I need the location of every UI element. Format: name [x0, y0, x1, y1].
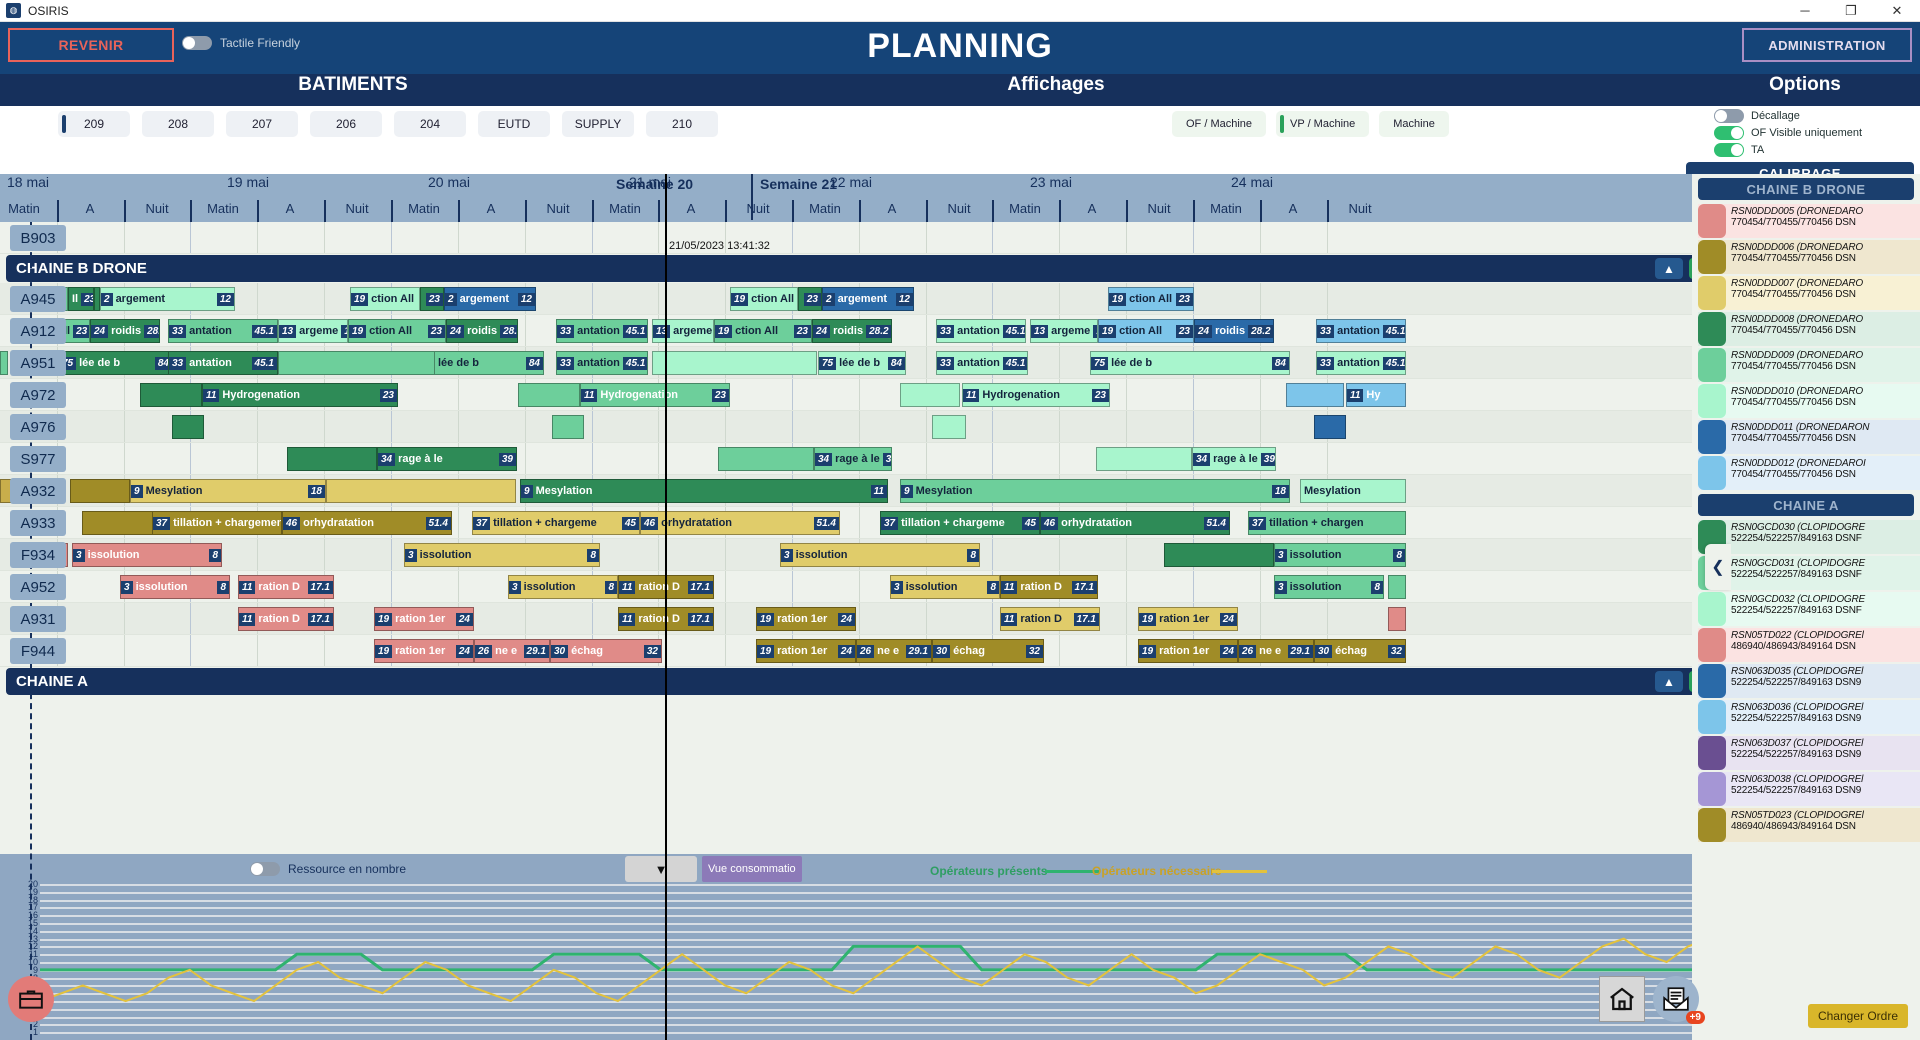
legend-item[interactable]: RSN0DDD010 (DRONEDARO770454/770455/77045…	[1698, 384, 1920, 418]
legend-text: RSN0GCD031 (CLOPIDOGRE522254/522257/8491…	[1726, 556, 1920, 590]
bar-badge-left: 19	[757, 613, 774, 626]
bar-badge-right: 29.1	[906, 645, 931, 658]
legend-color-swatch	[1698, 772, 1726, 806]
gantt-bar[interactable]: 23	[420, 287, 444, 311]
grid-line	[725, 411, 726, 442]
gantt-bar[interactable]: 30échag32	[1314, 639, 1406, 663]
chart-series-svg	[40, 884, 1731, 1040]
briefcase-icon[interactable]	[8, 976, 54, 1022]
legend-line1: RSN05TD023 (CLOPIDOGREl	[1731, 810, 1920, 821]
legend-item[interactable]: RSN0DDD007 (DRONEDARO770454/770455/77045…	[1698, 276, 1920, 310]
grid-line	[859, 571, 860, 602]
bar-badge-left: 19	[1139, 613, 1156, 626]
row-label-f934[interactable]: F934	[10, 542, 66, 568]
gantt-bar[interactable]: 3issolution8	[120, 575, 230, 599]
timeline-shift-5: Nuit	[345, 201, 368, 216]
gantt-bar[interactable]: 37tillation + chargeme45	[880, 511, 1040, 535]
legend-item[interactable]: RSN063D035 (CLOPIDOGREl522254/522257/849…	[1698, 664, 1920, 698]
gantt-bar[interactable]: lée de b84	[434, 351, 544, 375]
timeline-week-1: Semaine 21	[760, 176, 837, 192]
gantt-bar[interactable]: 24roidis28.2	[1194, 319, 1274, 343]
bar-badge-left: 13	[279, 325, 296, 338]
gantt-row: A93337tillation + chargement4546orhydrat…	[0, 507, 1731, 539]
timeline-day-6: 24 mai	[1231, 174, 1273, 190]
legend-item[interactable]: RSN0DDD011 (DRONEDARON770454/770455/7704…	[1698, 420, 1920, 454]
shift-divider-16	[1059, 200, 1061, 222]
bar-label: ration 1er	[774, 613, 838, 625]
bar-badge-right: 24	[1220, 645, 1237, 658]
gantt-bar[interactable]	[518, 383, 580, 407]
gantt-bar[interactable]	[172, 415, 204, 439]
gantt-bar[interactable]: 13argeme18	[278, 319, 348, 343]
timeline-shift-0: Matin	[8, 201, 40, 216]
bar-badge-left: 24	[1195, 325, 1212, 338]
grid-line	[124, 411, 125, 442]
maximize-button[interactable]: ❐	[1828, 0, 1874, 22]
gantt-bar[interactable]: 33antation45.1	[556, 351, 648, 375]
gantt-bar[interactable]: 33antation45.1	[936, 319, 1026, 343]
gantt-bar[interactable]: 2argement12	[444, 287, 536, 311]
grid-line	[992, 603, 993, 634]
gantt-bar[interactable]: 75lée de b84	[1090, 351, 1290, 375]
gantt-bar[interactable]: 46orhydratation51.4	[640, 511, 840, 535]
gantt-bar[interactable]: 19ration 1er24	[374, 607, 474, 631]
bar-badge-right: 17.1	[1072, 581, 1097, 594]
gantt-bar[interactable]	[1164, 543, 1274, 567]
gantt-row: B903	[0, 222, 1731, 254]
gantt-bar[interactable]: 33antation45.1	[1316, 319, 1406, 343]
bar-badge-left: 75	[1091, 357, 1108, 370]
row-label-a931[interactable]: A931	[10, 606, 66, 632]
gantt-bar[interactable]: 9Mesylation18	[900, 479, 1290, 503]
bar-badge-left: 19	[1099, 325, 1116, 338]
gantt-row: A945Il232argement1219ction All232argemen…	[0, 283, 1731, 315]
gantt-bar[interactable]: 19ration 1er24	[756, 607, 856, 631]
legend-item[interactable]: RSN05TD022 (CLOPIDOGREl486940/486943/849…	[1698, 628, 1920, 662]
bar-label: issolution	[903, 581, 988, 593]
gantt-bar[interactable]: 46orhydratation51.4	[1040, 511, 1230, 535]
bar-badge-left: 19	[731, 293, 748, 306]
bar-label: ration D	[635, 613, 687, 625]
gantt-bar[interactable]: 23	[798, 287, 822, 311]
legend-item[interactable]: RSN0GCD031 (CLOPIDOGRE522254/522257/8491…	[1698, 556, 1920, 590]
bar-badge-left: 3	[1275, 581, 1287, 594]
bar-badge-left: 2	[101, 293, 113, 306]
grid-line	[1059, 411, 1060, 442]
gantt-bar[interactable]: Mesylation	[1300, 479, 1406, 503]
legend-text: RSN0DDD012 (DRONEDAROI770454/770455/7704…	[1726, 456, 1920, 490]
gantt-bar[interactable]: 19ration 1er24	[1138, 639, 1238, 663]
legend-text: RSN0GCD032 (CLOPIDOGRE522254/522257/8491…	[1726, 592, 1920, 626]
grid-line	[1193, 379, 1194, 410]
gantt-bar[interactable]: 19ction All	[350, 287, 420, 311]
legend-item[interactable]: RSN0DDD008 (DRONEDARO770454/770455/77045…	[1698, 312, 1920, 346]
row-label-a912[interactable]: A912	[10, 318, 66, 344]
now-marker-label: 21/05/2023 13:41:32	[669, 240, 770, 252]
gantt-bar[interactable]: 33antation45.1	[936, 351, 1028, 375]
gantt-bar[interactable]: 37tillation + chargen	[1248, 511, 1406, 535]
gantt-bar[interactable]: 30échag32	[550, 639, 662, 663]
gantt-bar[interactable]: 3issolution8	[780, 543, 980, 567]
bar-badge-right: 8	[1393, 549, 1405, 562]
bar-label: issolution	[521, 581, 606, 593]
option-toggle-1[interactable]	[1714, 126, 1744, 140]
bar-label: ration 1er	[774, 645, 838, 657]
gantt-bar[interactable]: 3issolution8	[404, 543, 600, 567]
bar-badge-right: 8	[987, 581, 999, 594]
gantt-bar[interactable]	[1096, 447, 1192, 471]
gantt-bar[interactable]	[1286, 383, 1344, 407]
gantt-bar[interactable]: 46orhydratation51.4	[282, 511, 452, 535]
section-bar: BATIMENTS Affichages Options	[0, 74, 1920, 106]
bar-badge-right: 23	[1176, 325, 1193, 338]
gantt-bar[interactable]	[287, 447, 377, 471]
legend-item[interactable]: RSN0DDD009 (DRONEDARO770454/770455/77045…	[1698, 348, 1920, 382]
gantt-bar[interactable]: 33antation45.1	[1316, 351, 1406, 375]
chart-series-0	[40, 946, 1731, 969]
gantt-bar[interactable]: 24roidis28.2	[812, 319, 892, 343]
grid-line	[1126, 571, 1127, 602]
timeline-shift-14: Nuit	[947, 201, 970, 216]
bar-badge-left: 19	[349, 325, 366, 338]
gantt-bar[interactable]	[326, 479, 516, 503]
bar-badge-left: 19	[1139, 645, 1156, 658]
app-header: REVENIR Tactile Friendly PLANNING ADMINI…	[0, 22, 1920, 74]
gantt-bar[interactable]: 26ne e29.1	[1238, 639, 1314, 663]
gantt-bar[interactable]: 26ne e29.1	[856, 639, 932, 663]
gantt-bar[interactable]: 33antation45.1	[168, 319, 278, 343]
bar-badge-left: 3	[405, 549, 417, 562]
gantt-bar[interactable]: 13argeme18	[1030, 319, 1098, 343]
gantt-bar[interactable]: 9Mesylation11	[520, 479, 888, 503]
gantt-panel: ▲ Semaine 20Semaine 21 18 mai19 mai20 ma…	[0, 174, 1731, 1040]
grid-line	[257, 635, 258, 666]
gantt-bar[interactable]	[932, 415, 966, 439]
building-tab-supply[interactable]: SUPPLY	[562, 111, 634, 137]
option-row-1[interactable]: OF Visible uniquement	[1686, 126, 1914, 140]
page-title: PLANNING	[0, 27, 1920, 66]
legend-line2: 522254/522257/849163 DSNF	[1731, 533, 1920, 544]
gantt-bar[interactable]: 34rage à le39	[1192, 447, 1276, 471]
legend-color-swatch	[1698, 312, 1726, 346]
building-tab-208[interactable]: 208	[142, 111, 214, 137]
legend-item[interactable]: RSN0DDD006 (DRONEDARO770454/770455/77045…	[1698, 240, 1920, 274]
grid-line	[926, 411, 927, 442]
bar-badge-right: 8	[587, 549, 599, 562]
close-button[interactable]: ✕	[1874, 0, 1920, 22]
grid-line	[324, 283, 325, 314]
gantt-bar[interactable]	[718, 447, 814, 471]
gantt-bar[interactable]: 33antation45.1	[168, 351, 278, 375]
bar-label: lée de b	[435, 357, 526, 369]
changer-ordre-button[interactable]: Changer Ordre	[1808, 1004, 1908, 1028]
gantt-bar[interactable]	[1388, 607, 1406, 631]
bar-badge-left: 9	[521, 485, 533, 498]
group-collapse-button[interactable]: ▲	[1655, 258, 1683, 279]
grid-line	[1260, 379, 1261, 410]
gantt-bar[interactable]: 2argement12	[822, 287, 914, 311]
grid-line	[525, 603, 526, 634]
group-header[interactable]: CHAINE B DRONE▲✓	[6, 255, 1725, 282]
row-label-a952[interactable]: A952	[10, 574, 66, 600]
gantt-bar[interactable]	[140, 383, 202, 407]
row-label-b903[interactable]: B903	[10, 225, 66, 251]
option-toggle-2[interactable]	[1714, 143, 1744, 157]
gantt-bar[interactable]: 11ration D17.1	[1000, 575, 1098, 599]
legend-sidebar: CHAINE B DRONERSN0DDD005 (DRONEDARO77045…	[1692, 174, 1920, 1040]
bar-label: issolution	[417, 549, 588, 561]
bar-badge-right: 17.1	[308, 581, 333, 594]
bar-badge-right: 32	[1026, 645, 1043, 658]
legend-group-header: CHAINE A	[1698, 494, 1914, 516]
gantt-bar[interactable]	[1388, 575, 1406, 599]
bar-label: argement	[113, 293, 217, 305]
legend-item[interactable]: RSN063D038 (CLOPIDOGREl522254/522257/849…	[1698, 772, 1920, 806]
gantt-bar[interactable]: 19ration 1er24	[374, 639, 474, 663]
timeline-day-4: 22 mai	[830, 174, 872, 190]
grid-line	[592, 603, 593, 634]
gantt-bar[interactable]: 19ction All23	[714, 319, 812, 343]
bar-badge-left: 11	[1347, 389, 1363, 402]
gantt-bar[interactable]: 34rage à le39	[814, 447, 892, 471]
grid-line	[257, 283, 258, 314]
gantt-bar[interactable]: 24roidis28.2	[90, 319, 160, 343]
building-tab-209[interactable]: 209	[58, 111, 130, 137]
row-label-a933[interactable]: A933	[10, 510, 66, 536]
bar-badge-right: 45.1	[623, 325, 648, 338]
bar-badge-right: 8	[217, 581, 229, 594]
gantt-bar[interactable]: 11Hydrogenation23	[580, 383, 730, 407]
gantt-bar[interactable]: 11ration D17.1	[238, 607, 334, 631]
gantt-bar[interactable]: 37tillation + chargeme45	[472, 511, 640, 535]
bar-label: ration D	[1017, 613, 1073, 625]
gantt-bar[interactable]: 11ration D17.1	[238, 575, 334, 599]
gantt-bar[interactable]: 19ction All23	[348, 319, 446, 343]
option-toggle-0[interactable]	[1714, 109, 1744, 123]
administration-button[interactable]: ADMINISTRATION	[1742, 28, 1912, 62]
gantt-bar[interactable]	[278, 351, 443, 375]
grid-line	[1327, 222, 1328, 253]
gantt-bar[interactable]	[552, 415, 584, 439]
gantt-bar[interactable]: 19ction All23	[1098, 319, 1194, 343]
legend-color-swatch	[1698, 276, 1726, 310]
bar-badge-right: 32	[1388, 645, 1405, 658]
grid-line	[725, 635, 726, 666]
bar-badge-left: 33	[937, 357, 954, 370]
bar-badge-left: 46	[1041, 517, 1058, 530]
sidebar-collapse-button[interactable]: ❮	[1705, 544, 1731, 590]
resource-count-toggle[interactable]	[250, 862, 280, 876]
bar-badge-left: 30	[551, 645, 568, 658]
legend-item[interactable]: RSN0DDD005 (DRONEDARO770454/770455/77045…	[1698, 204, 1920, 238]
row-label-a972[interactable]: A972	[10, 382, 66, 408]
gantt-bar[interactable]: 24roidis28.2	[446, 319, 518, 343]
building-tab-207[interactable]: 207	[226, 111, 298, 137]
gantt-bar[interactable]: 11Hy	[1346, 383, 1406, 407]
vue-consommation-button[interactable]: Vue consommatio	[702, 856, 802, 882]
display-tab-machine[interactable]: Machine	[1379, 111, 1449, 137]
bar-badge-left: 33	[1317, 325, 1334, 338]
bar-badge-left: 19	[351, 293, 368, 306]
grid-line	[1126, 539, 1127, 570]
row-label-a976[interactable]: A976	[10, 414, 66, 440]
bar-badge-right: 23	[794, 325, 811, 338]
bar-label: argement	[835, 293, 896, 305]
expand-down-button[interactable]: ▼	[625, 856, 697, 882]
bar-badge-left: 11	[203, 389, 219, 402]
gantt-bar[interactable]: 37tillation + chargement45	[152, 511, 282, 535]
legend-text: RSN063D035 (CLOPIDOGREl522254/522257/849…	[1726, 664, 1920, 698]
bar-label: issolution	[1287, 581, 1372, 593]
bar-badge-left: 34	[378, 453, 395, 466]
group-collapse-button[interactable]: ▲	[1655, 671, 1683, 692]
legend-color-swatch	[1698, 384, 1726, 418]
building-tab-eutd[interactable]: EUTD	[478, 111, 550, 137]
gantt-bar[interactable]: 3issolution8	[1274, 543, 1406, 567]
bar-badge-right: 8	[605, 581, 617, 594]
gantt-bar[interactable]: 11Hydrogenation23	[962, 383, 1110, 407]
gantt-bar[interactable]: 2argement12	[100, 287, 235, 311]
gantt-bar[interactable]: 75lée de b84	[58, 351, 173, 375]
bar-label: argeme	[670, 325, 714, 337]
gantt-bar[interactable]: 75lée de b84	[818, 351, 906, 375]
bar-label: orhydratation	[300, 517, 425, 529]
timeline-shift-17: Nuit	[1147, 201, 1170, 216]
legend-item[interactable]: RSN05TD023 (CLOPIDOGREl486940/486943/849…	[1698, 808, 1920, 842]
gantt-bar[interactable]: 19ration 1er24	[1138, 607, 1238, 631]
bar-badge-left: 24	[91, 325, 108, 338]
building-tab-210[interactable]: 210	[646, 111, 718, 137]
bar-label: ne e	[874, 645, 905, 657]
legend-color-swatch	[1698, 700, 1726, 734]
gantt-bar[interactable]: 33antation45.1	[556, 319, 648, 343]
row-label-s977[interactable]: S977	[10, 446, 66, 472]
gantt-bar[interactable]: 3issolution8	[890, 575, 1000, 599]
gantt-bar[interactable]: 3issolution8	[508, 575, 618, 599]
gantt-bar[interactable]: 9Mesylation18	[130, 479, 326, 503]
bar-badge-right: 29.1	[1288, 645, 1313, 658]
bar-badge-left: 19	[1109, 293, 1126, 306]
legend-item[interactable]: RSN0GCD030 (CLOPIDOGRE522254/522257/8491…	[1698, 520, 1920, 554]
bar-label: roidis	[108, 325, 144, 337]
home-button[interactable]	[1599, 976, 1645, 1022]
legend-item[interactable]: RSN063D037 (CLOPIDOGREl522254/522257/849…	[1698, 736, 1920, 770]
gantt-bar[interactable]	[652, 351, 817, 375]
gantt-bar[interactable]	[0, 351, 8, 375]
row-label-f944[interactable]: F944	[10, 638, 66, 664]
bar-badge-left: 33	[169, 325, 186, 338]
gantt-bar[interactable]: 3issolution8	[1274, 575, 1384, 599]
bar-label: argeme	[1048, 325, 1093, 337]
legend-color-swatch	[1698, 240, 1726, 274]
grid-line	[792, 379, 793, 410]
gantt-bar[interactable]	[900, 383, 960, 407]
grid-line	[992, 283, 993, 314]
gantt-bar[interactable]	[1314, 415, 1346, 439]
grid-line	[324, 411, 325, 442]
gantt-bar[interactable]: 19ration 1er24	[756, 639, 856, 663]
grid-line	[1327, 603, 1328, 634]
bar-badge-left: 11	[1001, 581, 1017, 594]
bar-label: antation	[954, 325, 1003, 337]
legend-line1: RSN063D035 (CLOPIDOGREl	[1731, 666, 1920, 677]
gantt-bar[interactable]	[70, 479, 130, 503]
bar-label: ration 1er	[392, 645, 456, 657]
shift-divider-15	[992, 200, 994, 222]
shift-divider-14	[926, 200, 928, 222]
option-label-2: TA	[1751, 144, 1764, 156]
bar-badge-right: 18	[308, 485, 325, 498]
bar-label: Mesylation	[1301, 485, 1405, 497]
shift-divider-20	[1327, 200, 1329, 222]
legend-text: RSN063D038 (CLOPIDOGREl522254/522257/849…	[1726, 772, 1920, 806]
bar-label: issolution	[1287, 549, 1394, 561]
gantt-row: A97211Hydrogenation2311Hydrogenation2311…	[0, 379, 1731, 411]
row-label-a932[interactable]: A932	[10, 478, 66, 504]
legend-item[interactable]: RSN0GCD032 (CLOPIDOGRE522254/522257/8491…	[1698, 592, 1920, 626]
timeline-shift-10: A	[687, 201, 696, 216]
bar-badge-right: 23	[1176, 293, 1193, 306]
bar-badge-right: 23	[428, 325, 445, 338]
shift-divider-8	[525, 200, 527, 222]
bar-label: roidis	[830, 325, 866, 337]
bar-label: tillation + chargement	[170, 517, 282, 529]
row-label-a945[interactable]: A945	[10, 286, 66, 312]
legend-item[interactable]: RSN063D036 (CLOPIDOGREl522254/522257/849…	[1698, 700, 1920, 734]
legend-line2: 522254/522257/849163 DSN9	[1731, 713, 1920, 724]
gantt-bar[interactable]: 19ction All	[730, 287, 798, 311]
gantt-bar[interactable]: 19ction All23	[1108, 287, 1194, 311]
option-row-2[interactable]: TA	[1686, 143, 1914, 157]
display-tab-vpmachine[interactable]: VP / Machine	[1276, 111, 1369, 137]
gantt-bar[interactable]: 11ration D17.1	[1000, 607, 1100, 631]
gantt-bar[interactable]: 13argeme18	[652, 319, 714, 343]
gantt-bar[interactable]: 34rage à le39	[377, 447, 517, 471]
gantt-bar[interactable]: 30échag32	[932, 639, 1044, 663]
row-label-a951[interactable]: A951	[10, 350, 66, 376]
gantt-bar[interactable]: 26ne e29.1	[474, 639, 550, 663]
legend-line1: RSN063D038 (CLOPIDOGREl	[1731, 774, 1920, 785]
operators-chart: 2019181716151413121110987654321	[0, 884, 1731, 1040]
grid-line	[190, 443, 191, 474]
building-tab-204[interactable]: 204	[394, 111, 466, 137]
grid-line	[725, 539, 726, 570]
bar-badge-left: 33	[557, 357, 574, 370]
gantt-bar[interactable]: Il23	[68, 287, 94, 311]
display-tab-ofmachine[interactable]: OF / Machine	[1172, 111, 1266, 137]
grid-line	[458, 507, 459, 538]
option-row-0[interactable]: Décallage	[1686, 109, 1914, 123]
grid-line	[926, 315, 927, 346]
gantt-bar[interactable]: 3issolution8	[72, 543, 222, 567]
legend-line1: RSN0DDD005 (DRONEDARO	[1731, 206, 1920, 217]
bar-badge-left: 46	[283, 517, 300, 530]
group-header[interactable]: CHAINE A▲✓	[6, 668, 1725, 695]
bar-badge-left: 3	[781, 549, 793, 562]
legend-item[interactable]: RSN0DDD012 (DRONEDAROI770454/770455/7704…	[1698, 456, 1920, 490]
bar-badge-right: 28.2	[500, 325, 518, 338]
gantt-bar[interactable]: 11Hydrogenation23	[202, 383, 398, 407]
grid-line	[525, 443, 526, 474]
timeline-shift-1: A	[86, 201, 95, 216]
bar-badge-right: 51.4	[1204, 517, 1229, 530]
bar-badge-left: 19	[757, 645, 774, 658]
shift-divider-10	[658, 200, 660, 222]
minimize-button[interactable]: ─	[1782, 0, 1828, 22]
building-tab-206[interactable]: 206	[310, 111, 382, 137]
bar-label: rage à le	[832, 453, 883, 465]
timeline-day-0: 18 mai	[7, 174, 49, 190]
